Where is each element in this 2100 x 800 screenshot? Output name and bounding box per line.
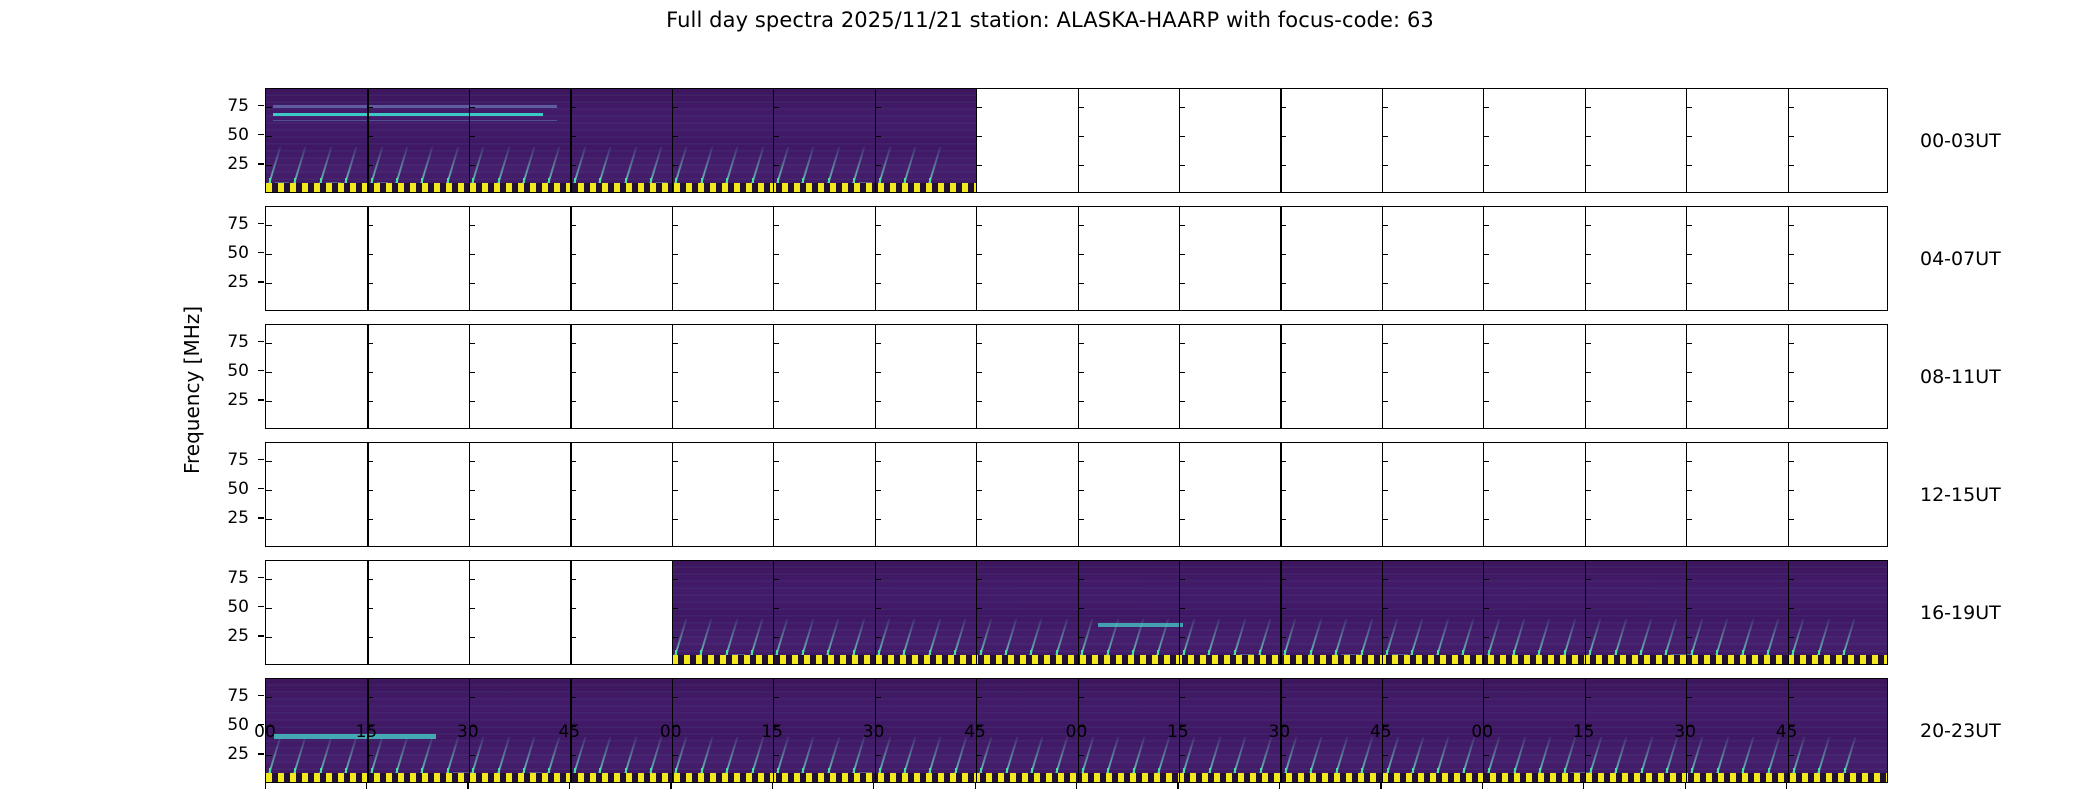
y-tick-mark-inner <box>1280 697 1286 698</box>
y-tick-mark-inner <box>1585 107 1591 108</box>
y-tick-mark-inner <box>1280 637 1286 638</box>
y-tick-mark-inner <box>1686 608 1692 609</box>
y-tick-mark-inner <box>1179 225 1185 226</box>
subpanel-divider <box>570 325 571 428</box>
subpanel-divider <box>570 561 571 664</box>
x-tick-label: 45 <box>1776 722 1798 742</box>
subpanel-divider <box>1280 89 1281 192</box>
y-tick-mark-inner <box>672 107 678 108</box>
subpanel-divider <box>1179 207 1180 310</box>
y-tick-mark-inner <box>1179 637 1185 638</box>
y-tick-mark-inner <box>367 107 373 108</box>
y-tick-mark-inner <box>1686 165 1692 166</box>
y-tick-mark-inner <box>672 283 678 284</box>
y-tick-mark-inner <box>976 697 982 698</box>
y-tick-mark-inner <box>773 343 779 344</box>
y-tick-mark-inner <box>1788 107 1794 108</box>
y-tick-mark-inner <box>1585 372 1591 373</box>
subpanel-dividers <box>266 443 1887 546</box>
y-tick-mark-inner <box>1382 107 1388 108</box>
y-tick-label: 75 <box>207 450 249 470</box>
y-tick-mark-inner <box>1179 283 1185 284</box>
y-tick-mark-inner <box>1788 283 1794 284</box>
x-tick-mark <box>569 783 570 789</box>
y-tick-mark-inner <box>875 165 881 166</box>
y-tick-mark-inner <box>1179 755 1185 756</box>
x-tick-mark <box>1685 783 1686 789</box>
y-tick-mark-inner <box>773 490 779 491</box>
y-tick-mark-inner <box>1788 755 1794 756</box>
y-tick-mark-inner <box>1280 579 1286 580</box>
y-tick-mark-inner <box>367 490 373 491</box>
subpanel-divider <box>976 443 977 546</box>
subpanel-dividers <box>266 207 1887 310</box>
subpanel-divider <box>1078 443 1079 546</box>
y-tick-mark-inner <box>469 490 475 491</box>
y-tick-mark-inner <box>1585 697 1591 698</box>
subpanel-divider <box>1382 207 1383 310</box>
y-tick-mark <box>258 459 264 460</box>
y-tick-mark <box>258 281 264 282</box>
carrier-line <box>273 113 543 116</box>
y-tick-mark-inner <box>1686 283 1692 284</box>
subpanel-divider <box>1585 325 1586 428</box>
y-tick-mark-inner <box>266 519 272 520</box>
y-tick-mark-inner <box>1686 579 1692 580</box>
y-tick-mark-inner <box>266 343 272 344</box>
y-tick-mark-inner <box>672 579 678 580</box>
y-tick-mark-inner <box>672 401 678 402</box>
subpanel-divider <box>1179 325 1180 428</box>
y-tick-label: 25 <box>207 508 249 528</box>
y-tick-mark-inner <box>1280 107 1286 108</box>
y-tick-mark-inner <box>1078 490 1084 491</box>
y-tick-mark-inner <box>469 254 475 255</box>
y-tick-mark-inner <box>266 637 272 638</box>
y-tick-mark-inner <box>773 637 779 638</box>
subpanel-divider <box>469 207 470 310</box>
y-tick-mark-inner <box>1078 637 1084 638</box>
y-tick-mark-inner <box>672 461 678 462</box>
y-tick-mark-inner <box>1585 490 1591 491</box>
y-tick-mark-inner <box>1483 637 1489 638</box>
y-tick-mark-inner <box>469 461 475 462</box>
y-tick-mark-inner <box>1483 461 1489 462</box>
y-tick-mark-inner <box>1788 519 1794 520</box>
subpanel-divider <box>1280 443 1281 546</box>
x-tick-mark <box>1380 783 1381 789</box>
y-tick-mark-inner <box>1686 254 1692 255</box>
y-tick-mark-inner <box>773 755 779 756</box>
y-tick-mark-inner <box>875 372 881 373</box>
y-tick-mark-inner <box>1788 697 1794 698</box>
y-tick-mark-inner <box>1483 372 1489 373</box>
y-tick-mark-inner <box>1280 461 1286 462</box>
y-tick-mark-inner <box>570 343 576 344</box>
y-tick-mark-inner <box>367 519 373 520</box>
x-tick-mark <box>1786 783 1787 789</box>
y-tick-mark <box>258 399 264 400</box>
row-plot-area <box>266 325 1887 428</box>
row-time-label: 04-07UT <box>1920 248 2001 270</box>
row-time-label: 12-15UT <box>1920 484 2001 506</box>
y-tick-mark-inner <box>976 107 982 108</box>
y-tick-mark-inner <box>1179 401 1185 402</box>
y-tick-mark-inner <box>976 136 982 137</box>
y-tick-mark-inner <box>469 283 475 284</box>
y-tick-mark-inner <box>976 755 982 756</box>
row-plot-area <box>266 89 1887 192</box>
y-tick-label: 75 <box>207 96 249 116</box>
y-tick-mark-inner <box>1483 755 1489 756</box>
subpanel-divider <box>976 207 977 310</box>
y-tick-mark-inner <box>1788 225 1794 226</box>
y-tick-mark-inner <box>1686 225 1692 226</box>
y-tick-mark-inner <box>1585 225 1591 226</box>
subpanel-divider <box>469 443 470 546</box>
x-tick-label: 15 <box>761 722 783 742</box>
x-tick-mark <box>772 783 773 789</box>
spectrogram-image <box>266 89 977 192</box>
y-tick-label: 50 <box>207 361 249 381</box>
y-tick-mark-inner <box>570 519 576 520</box>
row-time-label: 20-23UT <box>1920 720 2001 742</box>
subpanel-divider <box>1382 89 1383 192</box>
y-tick-mark-inner <box>1585 755 1591 756</box>
y-tick-mark-inner <box>976 283 982 284</box>
y-tick-mark-inner <box>1179 372 1185 373</box>
y-tick-mark-inner <box>570 254 576 255</box>
y-tick-label: 75 <box>207 568 249 588</box>
y-tick-mark-inner <box>1585 637 1591 638</box>
y-tick-mark-inner <box>1280 254 1286 255</box>
y-tick-mark-inner <box>672 637 678 638</box>
y-tick-mark-inner <box>1585 283 1591 284</box>
y-tick-mark-inner <box>1585 608 1591 609</box>
y-tick-mark-inner <box>1382 343 1388 344</box>
y-tick-mark-inner <box>1382 283 1388 284</box>
y-tick-mark-inner <box>469 608 475 609</box>
y-tick-mark-inner <box>672 343 678 344</box>
y-tick-mark-inner <box>976 225 982 226</box>
y-tick-mark-inner <box>875 490 881 491</box>
y-tick-mark-inner <box>773 372 779 373</box>
y-tick-mark-inner <box>1382 461 1388 462</box>
y-tick-mark-inner <box>570 608 576 609</box>
y-tick-mark-inner <box>773 697 779 698</box>
subpanel-divider <box>1179 443 1180 546</box>
y-tick-mark-inner <box>1078 107 1084 108</box>
y-tick-mark-inner <box>976 165 982 166</box>
x-tick-mark <box>1482 783 1483 789</box>
y-tick-mark-inner <box>570 225 576 226</box>
y-tick-mark-inner <box>1788 165 1794 166</box>
y-tick-mark-inner <box>1078 608 1084 609</box>
x-tick-mark <box>467 783 468 789</box>
y-tick-mark-inner <box>773 136 779 137</box>
y-tick-mark-inner <box>1686 372 1692 373</box>
subpanel-divider <box>976 325 977 428</box>
subpanel-divider <box>875 325 876 428</box>
y-tick-mark-inner <box>672 755 678 756</box>
y-tick-mark-inner <box>266 579 272 580</box>
x-tick-mark <box>1177 783 1178 789</box>
carrier-line <box>273 105 557 107</box>
y-tick-mark-inner <box>1483 225 1489 226</box>
x-tick-label: 15 <box>356 722 378 742</box>
y-tick-mark-inner <box>469 579 475 580</box>
y-tick-mark-inner <box>1382 519 1388 520</box>
y-tick-mark-inner <box>1788 343 1794 344</box>
y-tick-mark-inner <box>976 519 982 520</box>
y-tick-mark-inner <box>266 461 272 462</box>
y-tick-mark-inner <box>1280 283 1286 284</box>
y-tick-mark-inner <box>1483 254 1489 255</box>
y-tick-mark-inner <box>1179 136 1185 137</box>
y-tick-mark-inner <box>570 107 576 108</box>
y-tick-mark-inner <box>266 490 272 491</box>
y-tick-mark-inner <box>875 608 881 609</box>
y-tick-mark-inner <box>1280 136 1286 137</box>
subpanel-divider <box>672 443 673 546</box>
y-tick-label: 25 <box>207 272 249 292</box>
y-tick-mark-inner <box>266 136 272 137</box>
subpanel-divider <box>367 561 368 664</box>
y-tick-mark-inner <box>672 372 678 373</box>
subpanel-divider <box>1483 207 1484 310</box>
y-tick-mark-inner <box>875 136 881 137</box>
x-tick-mark <box>670 783 671 789</box>
subpanel-divider <box>1078 325 1079 428</box>
y-tick-mark-inner <box>367 283 373 284</box>
y-tick-mark-inner <box>773 401 779 402</box>
y-tick-mark-inner <box>1483 490 1489 491</box>
y-tick-label: 50 <box>207 479 249 499</box>
y-tick-mark-inner <box>1585 579 1591 580</box>
y-tick-mark-inner <box>570 579 576 580</box>
y-tick-mark-inner <box>1078 283 1084 284</box>
subpanel-divider <box>1686 443 1687 546</box>
y-tick-mark-inner <box>1280 608 1286 609</box>
y-tick-mark <box>258 606 264 607</box>
y-tick-mark-inner <box>875 343 881 344</box>
y-tick-mark-inner <box>367 401 373 402</box>
y-tick-mark-inner <box>1483 107 1489 108</box>
y-tick-mark-inner <box>1686 136 1692 137</box>
y-tick-label: 50 <box>207 243 249 263</box>
y-tick-mark-inner <box>976 490 982 491</box>
x-tick-mark <box>1279 783 1280 789</box>
spectrogram-image <box>672 561 1887 664</box>
y-tick-mark-inner <box>1483 136 1489 137</box>
spectra-row-00-03ut <box>265 88 1888 193</box>
y-tick-mark-inner <box>1686 755 1692 756</box>
y-tick-mark-inner <box>1788 401 1794 402</box>
y-tick-mark-inner <box>266 401 272 402</box>
y-tick-mark-inner <box>1382 490 1388 491</box>
subpanel-divider <box>1483 443 1484 546</box>
subpanel-divider <box>1280 207 1281 310</box>
y-tick-label: 25 <box>207 626 249 646</box>
y-tick-mark-inner <box>875 637 881 638</box>
y-tick-mark-inner <box>976 461 982 462</box>
y-tick-mark-inner <box>976 254 982 255</box>
y-tick-mark-inner <box>266 697 272 698</box>
y-tick-mark-inner <box>1280 519 1286 520</box>
y-tick-mark-inner <box>469 519 475 520</box>
y-tick-mark-inner <box>1078 519 1084 520</box>
subpanel-divider <box>773 207 774 310</box>
y-tick-mark-inner <box>875 254 881 255</box>
y-tick-mark-inner <box>875 107 881 108</box>
y-tick-mark-inner <box>1483 165 1489 166</box>
y-tick-label: 25 <box>207 390 249 410</box>
y-tick-mark-inner <box>1483 579 1489 580</box>
y-tick-mark-inner <box>1686 343 1692 344</box>
subpanel-divider <box>773 443 774 546</box>
y-tick-mark-inner <box>469 225 475 226</box>
subpanel-divider <box>1382 443 1383 546</box>
y-axis-label: Frequency [MHz] <box>176 170 208 610</box>
y-tick-mark-inner <box>266 755 272 756</box>
subpanel-divider <box>1788 89 1789 192</box>
y-tick-mark-inner <box>672 225 678 226</box>
subpanel-divider <box>367 325 368 428</box>
y-tick-mark-inner <box>1078 165 1084 166</box>
y-tick-mark-inner <box>1280 372 1286 373</box>
y-tick-mark-inner <box>1382 608 1388 609</box>
y-tick-mark-inner <box>1078 136 1084 137</box>
y-tick-mark-inner <box>875 519 881 520</box>
y-tick-mark-inner <box>1280 490 1286 491</box>
y-tick-mark-inner <box>1483 519 1489 520</box>
subpanel-divider <box>1179 89 1180 192</box>
x-tick-label: 00 <box>1471 722 1493 742</box>
y-tick-mark-inner <box>976 637 982 638</box>
y-tick-mark-inner <box>875 283 881 284</box>
y-tick-mark <box>258 488 264 489</box>
y-tick-mark-inner <box>1179 697 1185 698</box>
y-tick-mark-inner <box>773 519 779 520</box>
x-tick-label: 30 <box>863 722 885 742</box>
y-tick-mark-inner <box>1788 608 1794 609</box>
subpanel-divider <box>1686 207 1687 310</box>
y-tick-label: 75 <box>207 332 249 352</box>
spectra-figure: Full day spectra 2025/11/21 station: ALA… <box>0 0 2100 800</box>
y-tick-mark-inner <box>367 579 373 580</box>
x-tick-label: 45 <box>964 722 986 742</box>
y-axis-label-text: Frequency [MHz] <box>180 306 204 474</box>
x-tick-mark <box>873 783 874 789</box>
subpanel-divider <box>1686 89 1687 192</box>
spectra-row-16-19ut <box>265 560 1888 665</box>
subpanel-divider <box>1483 89 1484 192</box>
y-tick-mark-inner <box>875 225 881 226</box>
y-tick-mark-inner <box>976 372 982 373</box>
x-tick-mark <box>1583 783 1584 789</box>
y-tick-mark-inner <box>1280 401 1286 402</box>
y-tick-mark-inner <box>367 254 373 255</box>
x-tick-label: 30 <box>457 722 479 742</box>
y-tick-mark-inner <box>976 343 982 344</box>
y-tick-mark-inner <box>1585 401 1591 402</box>
y-tick-mark-inner <box>1078 254 1084 255</box>
subpanel-divider <box>1280 325 1281 428</box>
y-tick-mark-inner <box>1382 372 1388 373</box>
y-tick-mark <box>258 252 264 253</box>
y-tick-mark-inner <box>570 490 576 491</box>
y-tick-mark-inner <box>976 401 982 402</box>
row-time-label: 16-19UT <box>1920 602 2001 624</box>
y-tick-mark-inner <box>1280 755 1286 756</box>
subpanel-divider <box>1585 443 1586 546</box>
y-tick-mark-inner <box>1382 136 1388 137</box>
y-tick-label: 75 <box>207 214 249 234</box>
subpanel-divider <box>367 207 368 310</box>
y-tick-mark-inner <box>1179 343 1185 344</box>
subpanel-divider <box>1078 207 1079 310</box>
y-tick-mark-inner <box>570 461 576 462</box>
y-tick-mark-inner <box>367 343 373 344</box>
subpanel-divider <box>672 325 673 428</box>
y-tick-mark-inner <box>1179 254 1185 255</box>
y-tick-mark <box>258 695 264 696</box>
y-tick-label: 50 <box>207 125 249 145</box>
y-tick-mark-inner <box>672 254 678 255</box>
subpanel-divider <box>1788 443 1789 546</box>
y-tick-mark-inner <box>570 136 576 137</box>
y-tick-mark-inner <box>672 608 678 609</box>
y-tick-mark-inner <box>1078 697 1084 698</box>
sounding-marker-strip <box>266 773 1887 782</box>
y-tick-label: 50 <box>207 597 249 617</box>
y-tick-mark <box>258 163 264 164</box>
y-tick-mark-inner <box>1585 343 1591 344</box>
y-tick-mark-inner <box>1280 225 1286 226</box>
row-plot-area <box>266 561 1887 664</box>
y-tick-mark-inner <box>1686 697 1692 698</box>
y-tick-mark-inner <box>1788 372 1794 373</box>
y-tick-mark <box>258 635 264 636</box>
y-tick-mark-inner <box>672 165 678 166</box>
y-tick-mark-inner <box>1483 343 1489 344</box>
y-tick-mark-inner <box>672 519 678 520</box>
x-tick-label: 45 <box>558 722 580 742</box>
x-tick-label: 15 <box>1573 722 1595 742</box>
y-tick-mark <box>258 105 264 106</box>
subpanel-divider <box>469 325 470 428</box>
subpanel-divider <box>773 325 774 428</box>
y-tick-mark <box>258 517 264 518</box>
y-tick-mark-inner <box>1078 755 1084 756</box>
y-tick-mark-inner <box>1078 225 1084 226</box>
y-tick-mark <box>258 134 264 135</box>
y-tick-mark-inner <box>1483 608 1489 609</box>
y-tick-mark-inner <box>570 697 576 698</box>
y-tick-mark-inner <box>672 697 678 698</box>
y-tick-mark-inner <box>1179 608 1185 609</box>
y-tick-mark <box>258 577 264 578</box>
subpanel-divider <box>1078 89 1079 192</box>
y-tick-mark-inner <box>1382 697 1388 698</box>
y-tick-mark-inner <box>367 165 373 166</box>
y-tick-mark-inner <box>672 490 678 491</box>
x-tick-mark <box>1076 783 1077 789</box>
y-tick-mark-inner <box>1179 165 1185 166</box>
y-tick-mark-inner <box>1686 519 1692 520</box>
x-tick-mark <box>366 783 367 789</box>
spectra-row-04-07ut <box>265 206 1888 311</box>
